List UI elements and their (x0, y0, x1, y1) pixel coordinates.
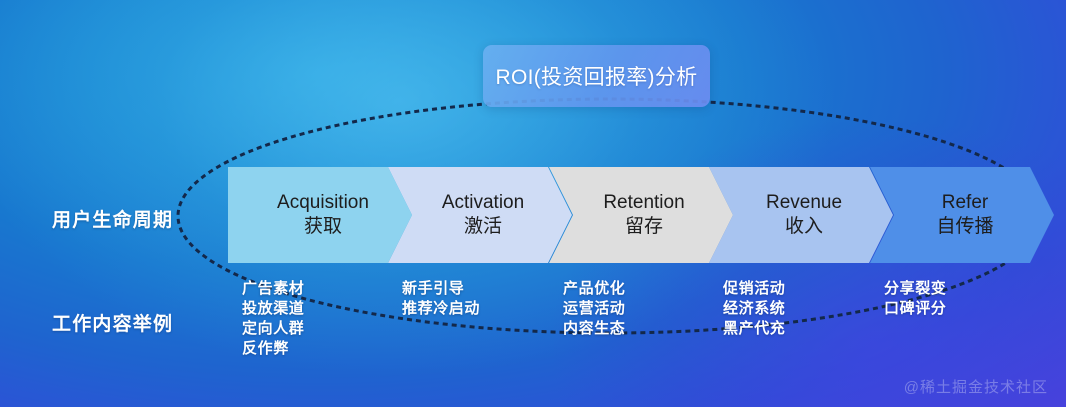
work-example-item: 促销活动 (723, 279, 785, 299)
stage-chevron-activation[interactable]: Activation 激活 (388, 167, 572, 263)
work-example-item: 反作弊 (242, 339, 304, 359)
work-example-item: 投放渠道 (242, 299, 304, 319)
watermark-text: @稀土掘金技术社区 (904, 376, 1048, 397)
stage-label-cn: 自传播 (936, 214, 993, 239)
roi-callout-label: ROI(投资回报率)分析 (496, 61, 698, 91)
work-example-item: 新手引导 (402, 279, 480, 299)
background-glow-right (554, 122, 1066, 407)
work-example-item: 定向人群 (242, 319, 304, 339)
work-example-item: 内容生态 (563, 319, 625, 339)
work-example-item: 产品优化 (563, 279, 625, 299)
work-examples-refer: 分享裂变口碑评分 (884, 279, 946, 319)
stage-label-cn: 收入 (785, 214, 823, 239)
work-example-item: 经济系统 (723, 299, 785, 319)
work-examples-revenue: 促销活动经济系统黑产代充 (723, 279, 785, 339)
stage-label-en: Revenue (766, 191, 842, 214)
work-example-item: 黑产代充 (723, 319, 785, 339)
stage-label-cn: 获取 (304, 214, 342, 239)
work-example-item: 分享裂变 (884, 279, 946, 299)
stage-label-cn: 留存 (625, 214, 663, 239)
work-example-item: 广告素材 (242, 279, 304, 299)
stage-label-en: Activation (442, 191, 524, 214)
work-example-item: 运营活动 (563, 299, 625, 319)
stage-chevron-acquisition[interactable]: Acquisition 获取 (228, 167, 412, 263)
roi-callout-box[interactable]: ROI(投资回报率)分析 (483, 45, 710, 107)
work-example-item: 口碑评分 (884, 299, 946, 319)
stage-chevron-retention[interactable]: Retention 留存 (549, 167, 733, 263)
stage-label-cn: 激活 (464, 214, 502, 239)
work-example-item: 推荐冷启动 (402, 299, 480, 319)
work-examples-acquisition: 广告素材投放渠道定向人群反作弊 (242, 279, 304, 359)
stage-chevron-revenue[interactable]: Revenue 收入 (709, 167, 893, 263)
row-label-work-examples: 工作内容举例 (52, 309, 173, 336)
lifecycle-chevron-band: Acquisition 获取 Activation 激活 Retention 留… (228, 167, 1030, 263)
stage-label-en: Acquisition (277, 191, 369, 214)
stage-chevron-refer[interactable]: Refer 自传播 (870, 167, 1054, 263)
stage-label-en: Refer (942, 191, 988, 214)
work-examples-retention: 产品优化运营活动内容生态 (563, 279, 625, 339)
infographic-canvas: ROI(投资回报率)分析 用户生命周期 工作内容举例 Acquisition 获… (0, 0, 1066, 407)
work-examples-activation: 新手引导推荐冷启动 (402, 279, 480, 319)
row-label-user-lifecycle: 用户生命周期 (52, 205, 173, 232)
stage-label-en: Retention (603, 191, 684, 214)
